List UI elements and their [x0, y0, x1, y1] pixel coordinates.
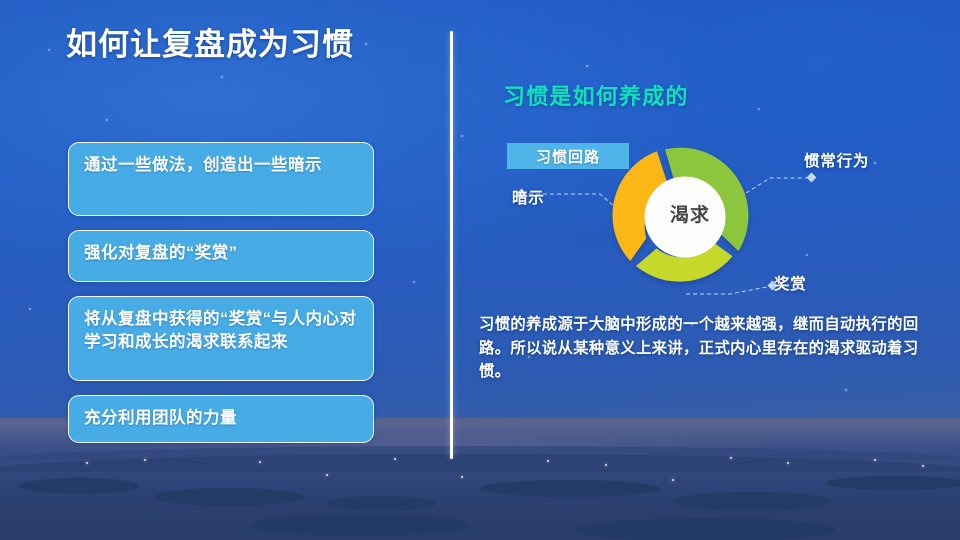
- diagram-label-reward: 奖赏: [774, 272, 807, 294]
- section-heading: 习惯是如何养成的: [503, 79, 689, 111]
- list-item[interactable]: 充分利用团队的力量: [68, 395, 374, 443]
- list-item[interactable]: 将从复盘中获得的“奖赏“与人内心对学习和成长的渴求联系起来: [68, 296, 374, 381]
- list-item[interactable]: 通过一些做法，创造出一些暗示: [68, 142, 374, 216]
- left-bullet-list: 通过一些做法，创造出一些暗示 强化对复盘的“奖赏” 将从复盘中获得的“奖赏“与人…: [68, 142, 374, 443]
- page-title: 如何让复盘成为习惯: [66, 19, 354, 64]
- diagram-label-routine: 惯常行为: [804, 149, 869, 171]
- body-paragraph: 习惯的养成源于大脑中形成的一个越来越强，继而自动执行的回路。所以说从某种意义上来…: [479, 313, 929, 384]
- donut-center-label: 渴求: [654, 200, 726, 227]
- vertical-divider: [450, 31, 453, 459]
- slide-canvas: 如何让复盘成为习惯 通过一些做法，创造出一些暗示 强化对复盘的“奖赏” 将从复盘…: [0, 0, 960, 540]
- list-item[interactable]: 强化对复盘的“奖赏”: [68, 230, 374, 282]
- diagram-label-cue: 暗示: [512, 186, 545, 208]
